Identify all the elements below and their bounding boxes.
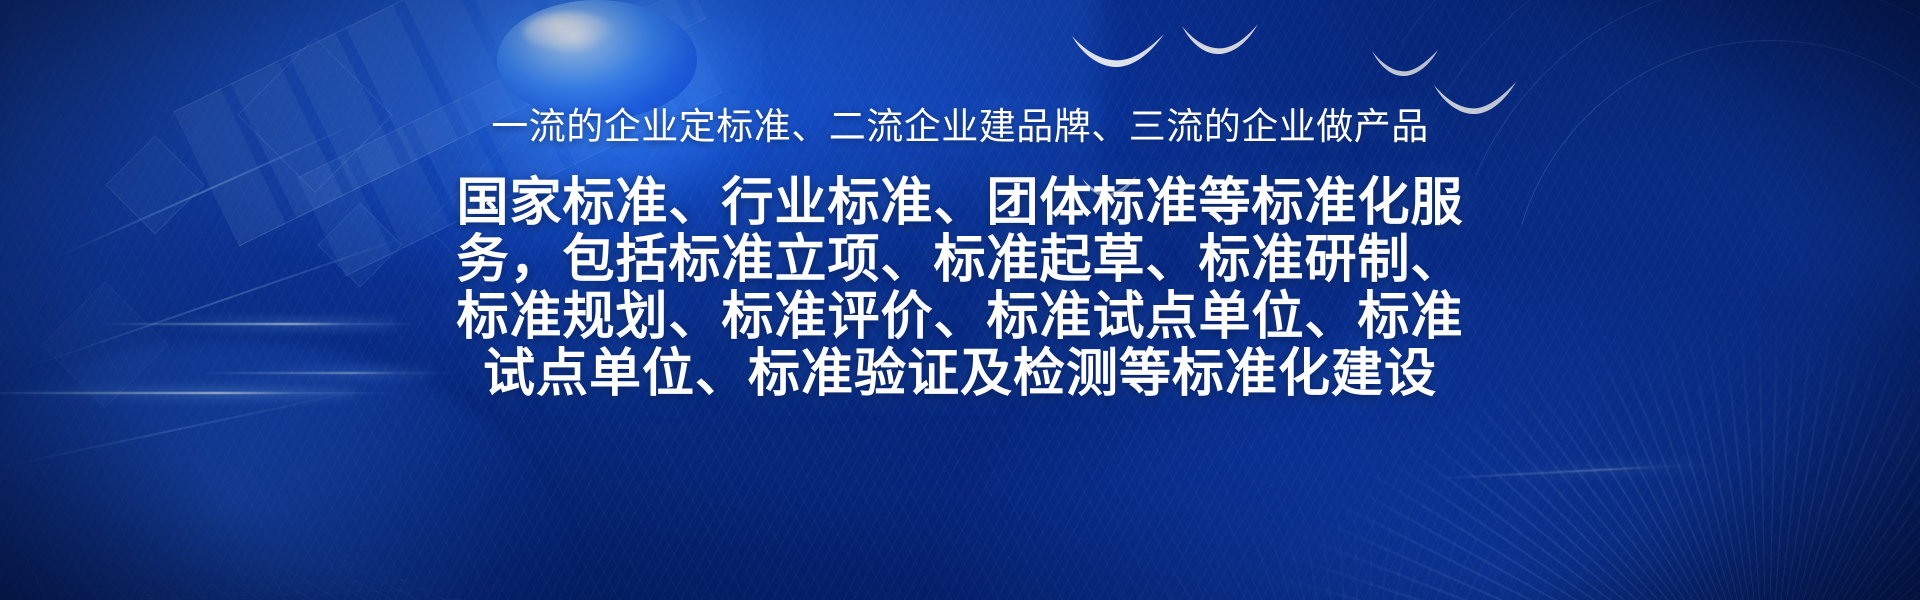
headline-line-3: 标准规划、标准评价、标准试点单位、标准 [430, 289, 1490, 346]
banner-headline: 国家标准、行业标准、团体标准等标准化服 务，包括标准立项、标准起草、标准研制、 … [430, 175, 1490, 403]
headline-line-1: 国家标准、行业标准、团体标准等标准化服 [430, 175, 1490, 232]
banner-subtitle: 一流的企业定标准、二流企业建品牌、三流的企业做产品 [491, 108, 1429, 145]
headline-line-4: 试点单位、标准验证及检测等标准化建设 [430, 346, 1490, 403]
banner: 一流的企业定标准、二流企业建品牌、三流的企业做产品 国家标准、行业标准、团体标准… [0, 0, 1920, 600]
headline-line-2: 务，包括标准立项、标准起草、标准研制、 [430, 232, 1490, 289]
banner-content: 一流的企业定标准、二流企业建品牌、三流的企业做产品 国家标准、行业标准、团体标准… [0, 0, 1920, 600]
